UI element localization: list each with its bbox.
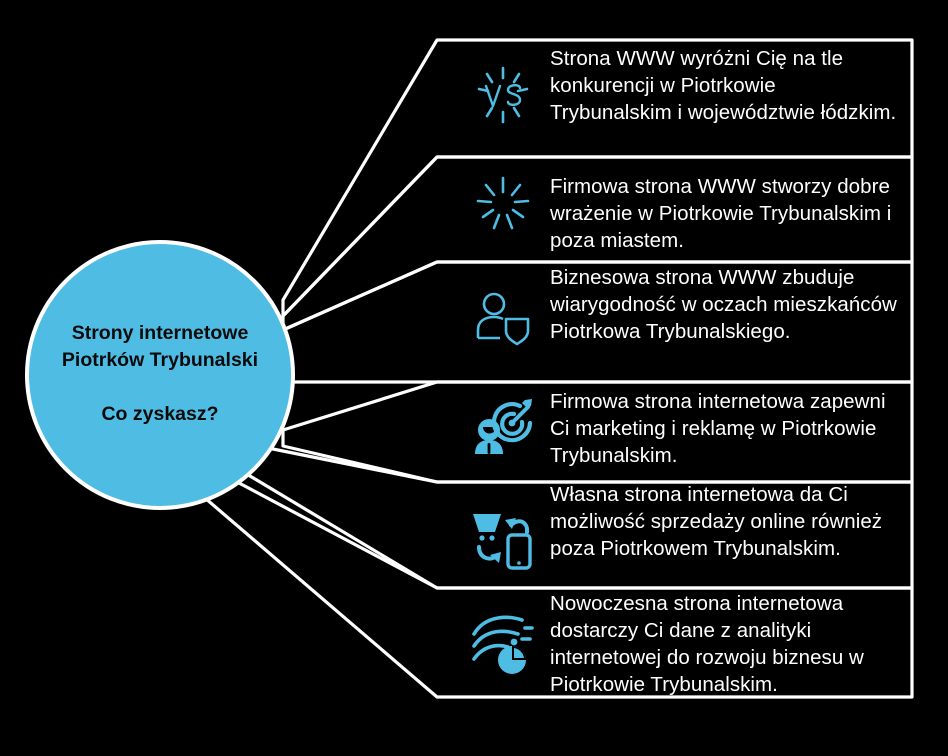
callout-text-2: Firmowa strona WWW stworzy dobre wrażeni… — [550, 173, 902, 254]
center-node-line1: Strony internetowe — [72, 322, 249, 344]
callout-text-4: Firmowa strona internetowa zapewni Ci ma… — [550, 388, 902, 469]
cart-mobile-icon — [470, 505, 536, 571]
callout-text-5: Własna strona internetowa da Ci możliwoś… — [550, 481, 902, 562]
infographic-canvas: Strony internetowe Piotrków Trybunalski … — [0, 0, 948, 756]
person-shield-icon — [470, 286, 536, 352]
callout-text-6: Nowoczesna strona internetowa dostarczy … — [550, 590, 902, 698]
callout-text-3: Biznesowa strona WWW zbuduje wiarygodnoś… — [550, 264, 902, 345]
callout-text-1: Strona WWW wyróżni Cię na tle konkurencj… — [550, 45, 902, 126]
vs-burst-icon — [470, 62, 536, 128]
center-node-circle[interactable] — [27, 242, 293, 508]
analytics-pie-icon — [470, 612, 536, 678]
center-node-line2: Piotrków Trybunalski — [62, 349, 258, 371]
sparkle-burst-icon — [470, 170, 536, 236]
person-target-dart-icon — [470, 392, 536, 458]
center-node-line3: Co zyskasz? — [101, 403, 218, 425]
